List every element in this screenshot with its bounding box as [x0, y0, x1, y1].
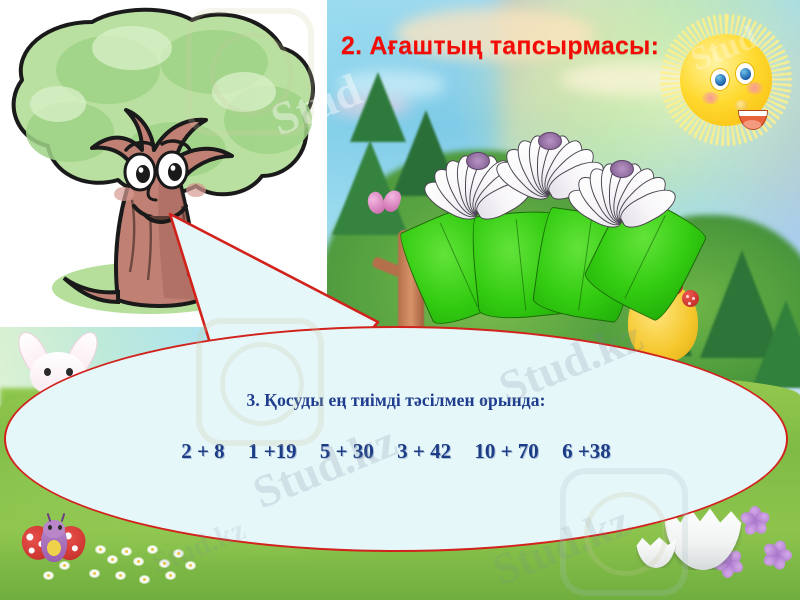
slide-title: 2. Ағаштың тапсырмасы: [341, 32, 659, 61]
equation-item: 1 +19 [248, 439, 297, 463]
equation-item: 3 + 42 [397, 439, 451, 463]
slide-canvas: 3. Қосуды ең тиімді тәсілмен орында: 2 +… [0, 0, 800, 600]
equations-row: 2 + 8 1 +19 5 + 30 3 + 42 10 + 70 6 +38 [181, 439, 611, 464]
lotus-flower-cluster [420, 108, 680, 318]
lotus-flower [560, 136, 682, 222]
sun-character [660, 14, 792, 146]
sun-disc [680, 34, 772, 126]
equation-item: 5 + 30 [320, 439, 374, 463]
task-heading: 3. Қосуды ең тиімді тәсілмен орында: [246, 390, 545, 411]
equation-item: 10 + 70 [474, 439, 538, 463]
equation-item: 2 + 8 [181, 439, 224, 463]
speech-bubble: 3. Қосуды ең тиімді тәсілмен орында: 2 +… [4, 326, 788, 552]
equation-item: 6 +38 [562, 439, 611, 463]
